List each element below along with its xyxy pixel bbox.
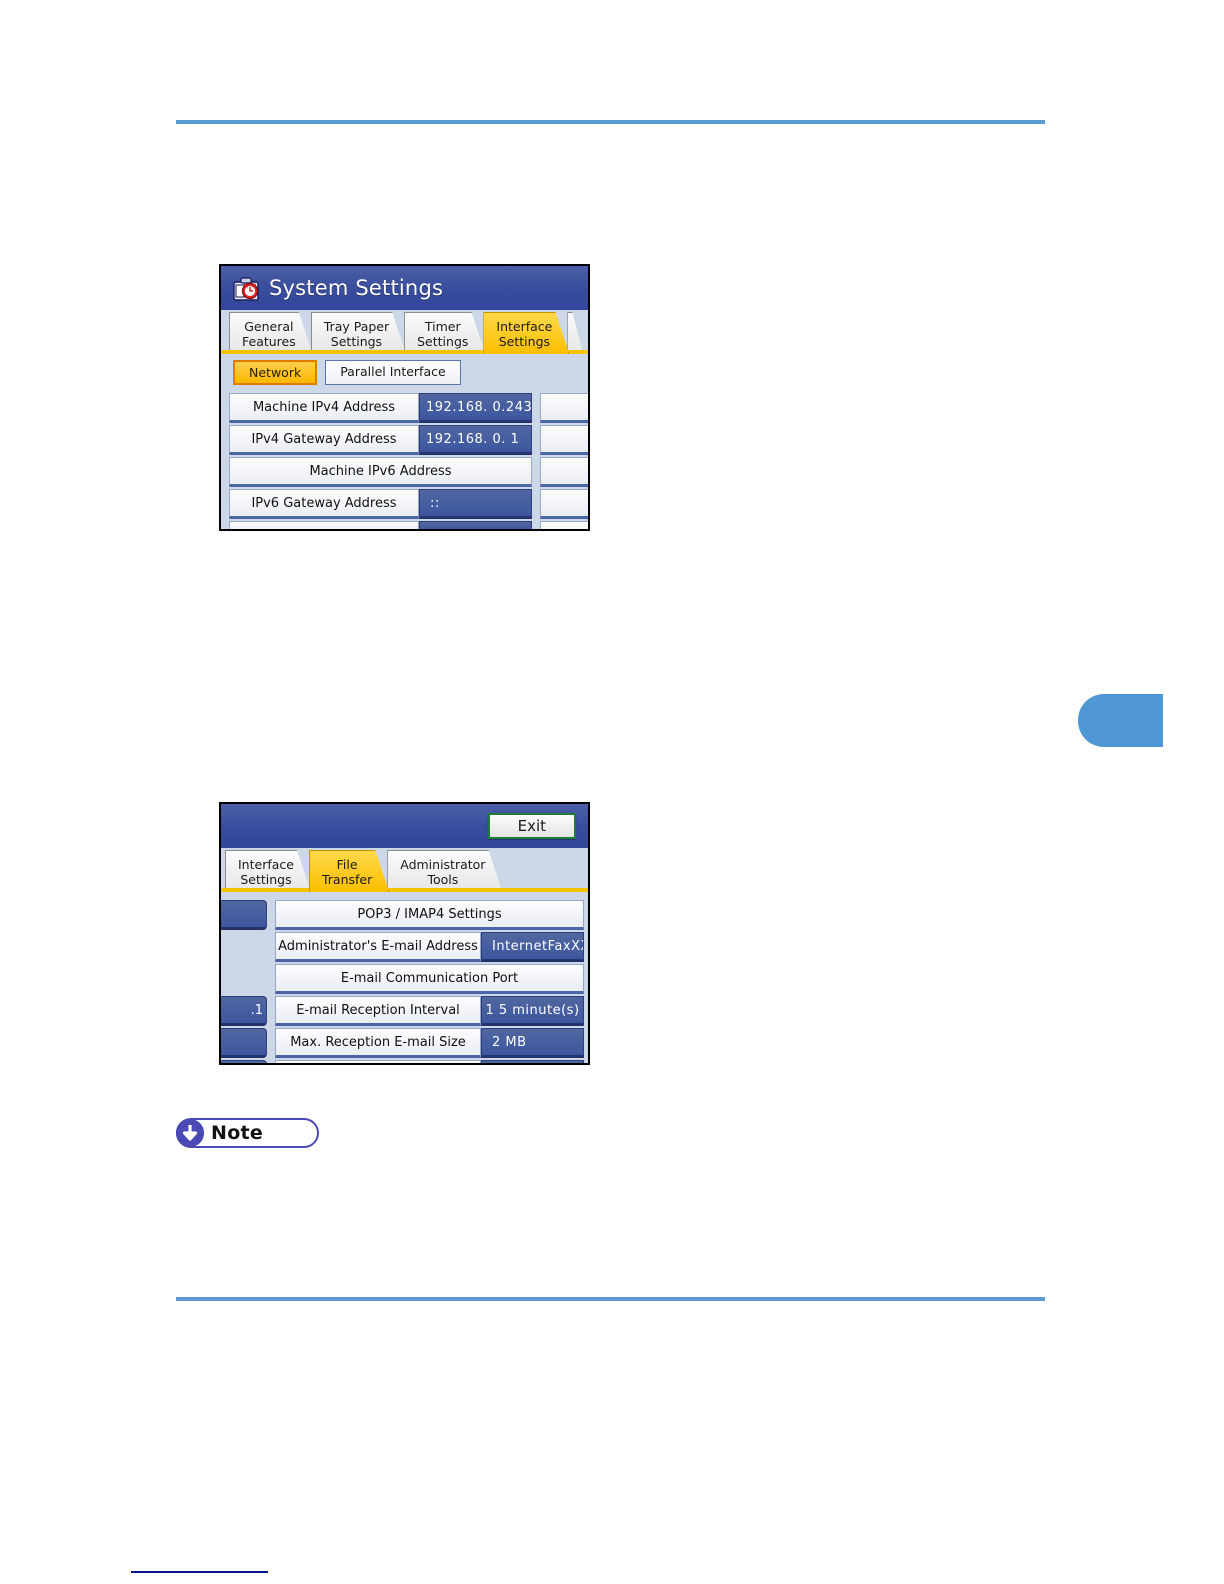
- note-label: Note: [211, 1122, 263, 1144]
- table-row[interactable]: Administrator's E-mail Address InternetF…: [221, 932, 588, 962]
- row-action-button-1[interactable]: [540, 393, 590, 423]
- network-button[interactable]: Network: [233, 360, 317, 385]
- tab-timer-settings-line1: Timer: [417, 319, 468, 334]
- row-label-email-communication-port: E-mail Communication Port: [275, 964, 584, 994]
- tab-interface-settings[interactable]: Interface Settings: [225, 850, 311, 892]
- tab-interface-settings[interactable]: Interface Settings: [483, 312, 569, 354]
- exit-button[interactable]: Exit: [488, 813, 576, 839]
- table-row[interactable]: E-mail Communication Port: [221, 964, 588, 994]
- tab-interface-settings-line1: Interface: [238, 857, 294, 872]
- row-label-max-reception-email-size: Max. Reception E-mail Size: [275, 1028, 481, 1058]
- tab-administrator-tools-line2: Tools: [400, 872, 485, 887]
- row-action-button-2[interactable]: [540, 425, 590, 455]
- row-value-email-reception-interval[interactable]: 1 5 minute(s): [481, 996, 584, 1026]
- row-label-ipv6-gateway-address: IPv6 Gateway Address: [229, 489, 419, 519]
- tab-general-features-line2: Features: [242, 334, 296, 349]
- lcd2-settings-list: POP3 / IMAP4 Settings Administrator's E-…: [221, 892, 588, 1065]
- toolbox-clock-icon: [231, 273, 261, 303]
- footnote-separator-rule: [131, 1571, 268, 1573]
- lcd1-tab-strip: General Features Tray Paper Settings Tim…: [221, 310, 588, 354]
- row-label-pop3-imap4-settings: POP3 / IMAP4 Settings: [275, 900, 584, 930]
- row-label-machine-ipv4-address: Machine IPv4 Address: [229, 393, 419, 423]
- lcd2-title-bar: Exit: [221, 804, 588, 848]
- row-value-max-reception-email-size[interactable]: 2 MB: [481, 1028, 584, 1058]
- screenshot-system-settings-file-transfer: Exit Interface Settings File Transfer Ad…: [219, 802, 590, 1065]
- tab-tray-paper-settings-line2: Settings: [324, 334, 389, 349]
- row-action-button-3[interactable]: [540, 457, 590, 487]
- left-value-chip-1[interactable]: [219, 900, 267, 930]
- tab-administrator-tools-line1: Administrator: [400, 857, 485, 872]
- table-row[interactable]: IPv6 Gateway Address ::: [221, 489, 588, 519]
- left-value-chip-4[interactable]: [219, 1060, 267, 1065]
- page-bottom-rule: [176, 1297, 1045, 1301]
- row-label-administrators-email-address: Administrator's E-mail Address: [275, 932, 481, 962]
- lcd1-interface-toggle-row: Network Parallel Interface: [221, 354, 588, 391]
- screenshot-system-settings-interface: System Settings General Features Tray Pa…: [219, 264, 590, 531]
- tab-general-features-line1: General: [242, 319, 296, 334]
- row-label-machine-ipv6-address: Machine IPv6 Address: [229, 457, 532, 487]
- tab-general-features[interactable]: General Features: [229, 312, 313, 354]
- page-top-rule: [176, 120, 1045, 124]
- row-label-email-reception-interval: E-mail Reception Interval: [275, 996, 481, 1026]
- table-row[interactable]: Max. Reception E-mail Size 2 MB: [221, 1028, 588, 1058]
- row-action-button-4[interactable]: [540, 489, 590, 519]
- row-value-ipv6-gateway-address[interactable]: ::: [419, 489, 532, 519]
- lcd1-title-bar: System Settings: [221, 266, 588, 310]
- tab-file-transfer-line2: Transfer: [322, 872, 372, 887]
- row-action-button-5[interactable]: [540, 521, 590, 531]
- lcd1-settings-list: Machine IPv4 Address 192.168. 0.243 IPv4…: [221, 391, 588, 531]
- tab-next-partial[interactable]: [567, 312, 583, 354]
- row-value-ipv4-gateway-address[interactable]: 192.168. 0. 1: [419, 425, 532, 455]
- tab-administrator-tools[interactable]: Administrator Tools: [387, 850, 502, 892]
- lcd2-tab-strip: Interface Settings File Transfer Adminis…: [221, 848, 588, 892]
- tab-timer-settings[interactable]: Timer Settings: [404, 312, 485, 354]
- tab-file-transfer-line1: File: [322, 857, 372, 872]
- row-label-partial: [229, 521, 419, 531]
- lcd1-title: System Settings: [269, 276, 443, 300]
- parallel-interface-button[interactable]: Parallel Interface: [325, 360, 460, 385]
- left-value-chip-3[interactable]: [219, 1028, 267, 1058]
- table-row-partial[interactable]: [221, 1060, 588, 1065]
- tab-tray-paper-settings-line1: Tray Paper: [324, 319, 389, 334]
- tab-file-transfer[interactable]: File Transfer: [309, 850, 389, 892]
- tab-interface-settings-line1: Interface: [496, 319, 552, 334]
- tab-interface-settings-line2: Settings: [238, 872, 294, 887]
- row-value-partial[interactable]: [419, 521, 532, 531]
- table-row[interactable]: IPv4 Gateway Address 192.168. 0. 1: [221, 425, 588, 455]
- chapter-side-tab: [1078, 694, 1163, 747]
- table-row[interactable]: Machine IPv4 Address 192.168. 0.243: [221, 393, 588, 423]
- table-row[interactable]: E-mail Reception Interval 1 5 minute(s): [221, 996, 588, 1026]
- tab-tray-paper-settings[interactable]: Tray Paper Settings: [311, 312, 406, 354]
- table-row[interactable]: POP3 / IMAP4 Settings: [221, 900, 588, 930]
- down-arrow-icon: [176, 1119, 204, 1147]
- tab-timer-settings-line2: Settings: [417, 334, 468, 349]
- table-row[interactable]: Machine IPv6 Address: [221, 457, 588, 487]
- row-label-partial: [275, 1060, 481, 1065]
- row-value-partial[interactable]: [481, 1060, 584, 1065]
- table-row-partial[interactable]: [221, 521, 588, 531]
- row-label-ipv4-gateway-address: IPv4 Gateway Address: [229, 425, 419, 455]
- tab-interface-settings-line2: Settings: [496, 334, 552, 349]
- row-value-administrators-email-address[interactable]: InternetFaxXXX@.: [481, 932, 584, 962]
- left-value-chip-2[interactable]: .1: [219, 996, 267, 1026]
- note-badge: Note: [176, 1118, 319, 1148]
- row-value-machine-ipv4-address[interactable]: 192.168. 0.243: [419, 393, 532, 423]
